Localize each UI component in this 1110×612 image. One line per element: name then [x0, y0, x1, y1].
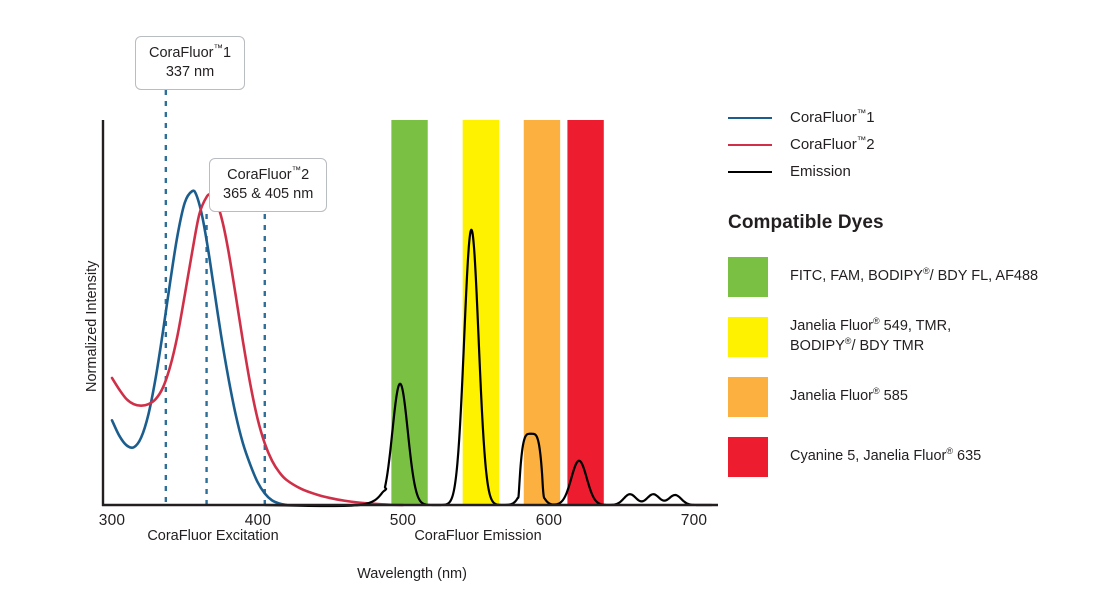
series-legend-item-2[interactable]: CoraFluor™2	[728, 131, 1110, 158]
dye-legend-item-4[interactable]: Cyanine 5, Janelia Fluor® 635	[728, 431, 1110, 482]
dye-color-swatch	[728, 377, 768, 417]
compatible-dyes-heading: Compatible Dyes	[728, 212, 1110, 234]
callout-value: 365 & 405 nm	[223, 185, 313, 204]
y-axis-title: Normalized Intensity	[84, 261, 100, 392]
x-region-label-1: CoraFluor Excitation	[147, 528, 278, 544]
chart-legend: CoraFluor™1CoraFluor™2Emission Compatibl…	[728, 104, 1110, 491]
series-legend: CoraFluor™1CoraFluor™2Emission	[728, 104, 1110, 185]
dye-legend-item-3[interactable]: Janelia Fluor® 585	[728, 371, 1110, 422]
x-axis-title: Wavelength (nm)	[357, 566, 467, 582]
dye-legend-label: Janelia Fluor® 549, TMR,BODIPY®/ BDY TMR	[790, 317, 951, 356]
dye-label-line: Cyanine 5, Janelia Fluor® 635	[790, 447, 981, 467]
series-legend-label: Emission	[790, 163, 851, 180]
emission-band-2	[524, 120, 560, 505]
series-legend-item-3[interactable]: Emission	[728, 158, 1110, 185]
excitation-curve-2	[112, 194, 403, 505]
callout-1: CoraFluor™1337 nm	[135, 36, 245, 90]
callout-title: CoraFluor™2	[227, 167, 309, 183]
emission-band-3	[567, 120, 603, 505]
dye-legend-label: Janelia Fluor® 585	[790, 387, 908, 407]
x-tick-700: 700	[681, 512, 707, 530]
compatible-dyes-list: FITC, FAM, BODIPY®/ BDY FL, AF488Janelia…	[728, 251, 1110, 482]
series-line-swatch	[728, 117, 772, 119]
dye-label-line: Janelia Fluor® 585	[790, 387, 908, 407]
series-legend-item-1[interactable]: CoraFluor™1	[728, 104, 1110, 131]
callout-title: CoraFluor™1	[149, 45, 231, 61]
spectra-plot: 300400500600700 CoraFluor ExcitationCora…	[0, 0, 730, 612]
emission-band-1	[463, 120, 499, 505]
dye-legend-item-1[interactable]: FITC, FAM, BODIPY®/ BDY FL, AF488	[728, 251, 1110, 302]
dye-color-swatch	[728, 317, 768, 357]
dye-legend-label: FITC, FAM, BODIPY®/ BDY FL, AF488	[790, 267, 1038, 287]
series-line-swatch	[728, 171, 772, 173]
dye-color-swatch	[728, 257, 768, 297]
callout-2: CoraFluor™2365 & 405 nm	[209, 158, 327, 212]
dye-label-line: FITC, FAM, BODIPY®/ BDY FL, AF488	[790, 267, 1038, 287]
dye-label-line: Janelia Fluor® 549, TMR,	[790, 317, 951, 337]
dye-label-line: BODIPY®/ BDY TMR	[790, 337, 951, 357]
x-tick-500: 500	[390, 512, 416, 530]
x-region-label-2: CoraFluor Emission	[414, 528, 541, 544]
dye-color-swatch	[728, 437, 768, 477]
series-legend-label: CoraFluor™1	[790, 109, 875, 126]
x-tick-300: 300	[99, 512, 125, 530]
callout-value: 337 nm	[149, 63, 231, 82]
chart-canvas: 300400500600700 CoraFluor ExcitationCora…	[0, 0, 1110, 612]
series-legend-label: CoraFluor™2	[790, 136, 875, 153]
dye-legend-label: Cyanine 5, Janelia Fluor® 635	[790, 447, 981, 467]
dye-legend-item-2[interactable]: Janelia Fluor® 549, TMR,BODIPY®/ BDY TMR	[728, 311, 1110, 362]
excitation-curve-1	[112, 191, 287, 505]
series-line-swatch	[728, 144, 772, 146]
